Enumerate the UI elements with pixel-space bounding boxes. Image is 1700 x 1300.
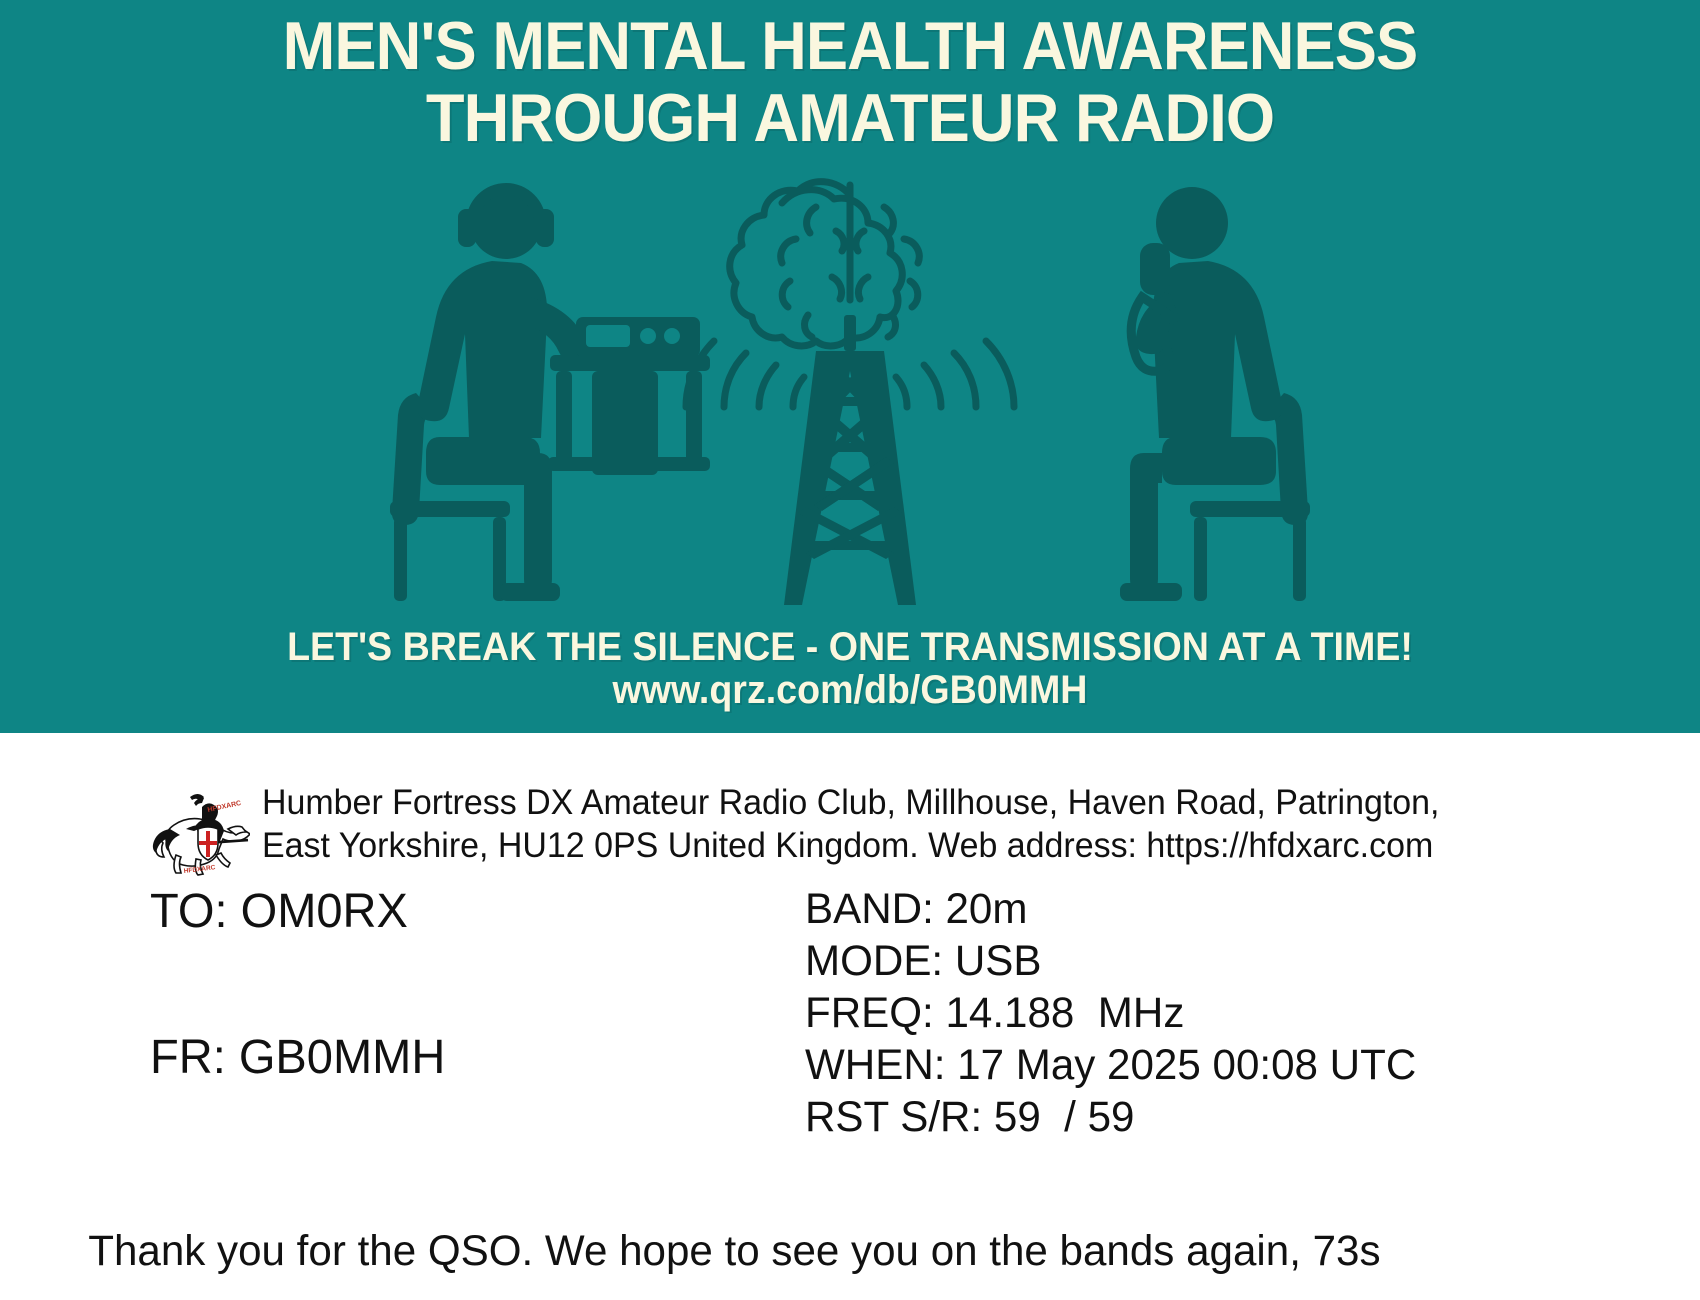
qso-to: TO: OM0RX: [150, 883, 660, 941]
qso-details: TO: OM0RX FR: GB0MMH BAND: 20m MODE: USB…: [0, 883, 1700, 1143]
qso-when: WHEN: 17 May 2025 00:08 UTC: [805, 1039, 1550, 1091]
club-address-line-1: Humber Fortress DX Amateur Radio Club, M…: [262, 781, 1439, 824]
brain-icon: [730, 182, 919, 346]
info-panel: HFDXARC HFDXARC Humber Fortress DX Amate…: [0, 733, 1700, 1300]
qso-rst: RST S/R: 59 / 59: [805, 1091, 1550, 1143]
qso-from: FR: GB0MMH: [150, 1029, 660, 1087]
tagline: LET'S BREAK THE SILENCE - ONE TRANSMISSI…: [51, 625, 1649, 670]
logo-banner-text: HFDXARC: [207, 800, 242, 814]
hero-panel: MEN'S MENTAL HEALTH AWARENESS THROUGH AM…: [0, 0, 1700, 733]
hero-illustration: [380, 165, 1320, 625]
thank-you-message: Thank you for the QSO. We hope to see yo…: [0, 1225, 1666, 1277]
title-line-1: MEN'S MENTAL HEALTH AWARENESS: [283, 8, 1418, 84]
qrz-url[interactable]: www.qrz.com/db/GB0MMH: [51, 668, 1649, 713]
hfdxarc-knight-logo-icon: HFDXARC HFDXARC: [150, 785, 250, 877]
qso-band: BAND: 20m: [805, 883, 1550, 935]
operator-with-headphones-icon: [390, 183, 710, 601]
radio-tower-icon: [784, 315, 916, 605]
qso-parameters: BAND: 20m MODE: USB FREQ: 14.188 MHz WHE…: [805, 883, 1565, 1143]
qso-mode: MODE: USB: [805, 935, 1550, 987]
page-title: MEN'S MENTAL HEALTH AWARENESS THROUGH AM…: [60, 10, 1641, 154]
club-header: HFDXARC HFDXARC Humber Fortress DX Amate…: [150, 781, 1600, 877]
qso-freq: FREQ: 14.188 MHz: [805, 987, 1550, 1039]
club-address-line-2: East Yorkshire, HU12 0PS United Kingdom.…: [262, 824, 1439, 867]
title-line-2: THROUGH AMATEUR RADIO: [60, 82, 1641, 154]
operator-with-microphone-icon: [1120, 187, 1310, 601]
qsl-card: MEN'S MENTAL HEALTH AWARENESS THROUGH AM…: [0, 0, 1700, 1300]
qso-callsigns: TO: OM0RX FR: GB0MMH: [150, 883, 670, 1087]
club-address: Humber Fortress DX Amateur Radio Club, M…: [262, 781, 1439, 867]
